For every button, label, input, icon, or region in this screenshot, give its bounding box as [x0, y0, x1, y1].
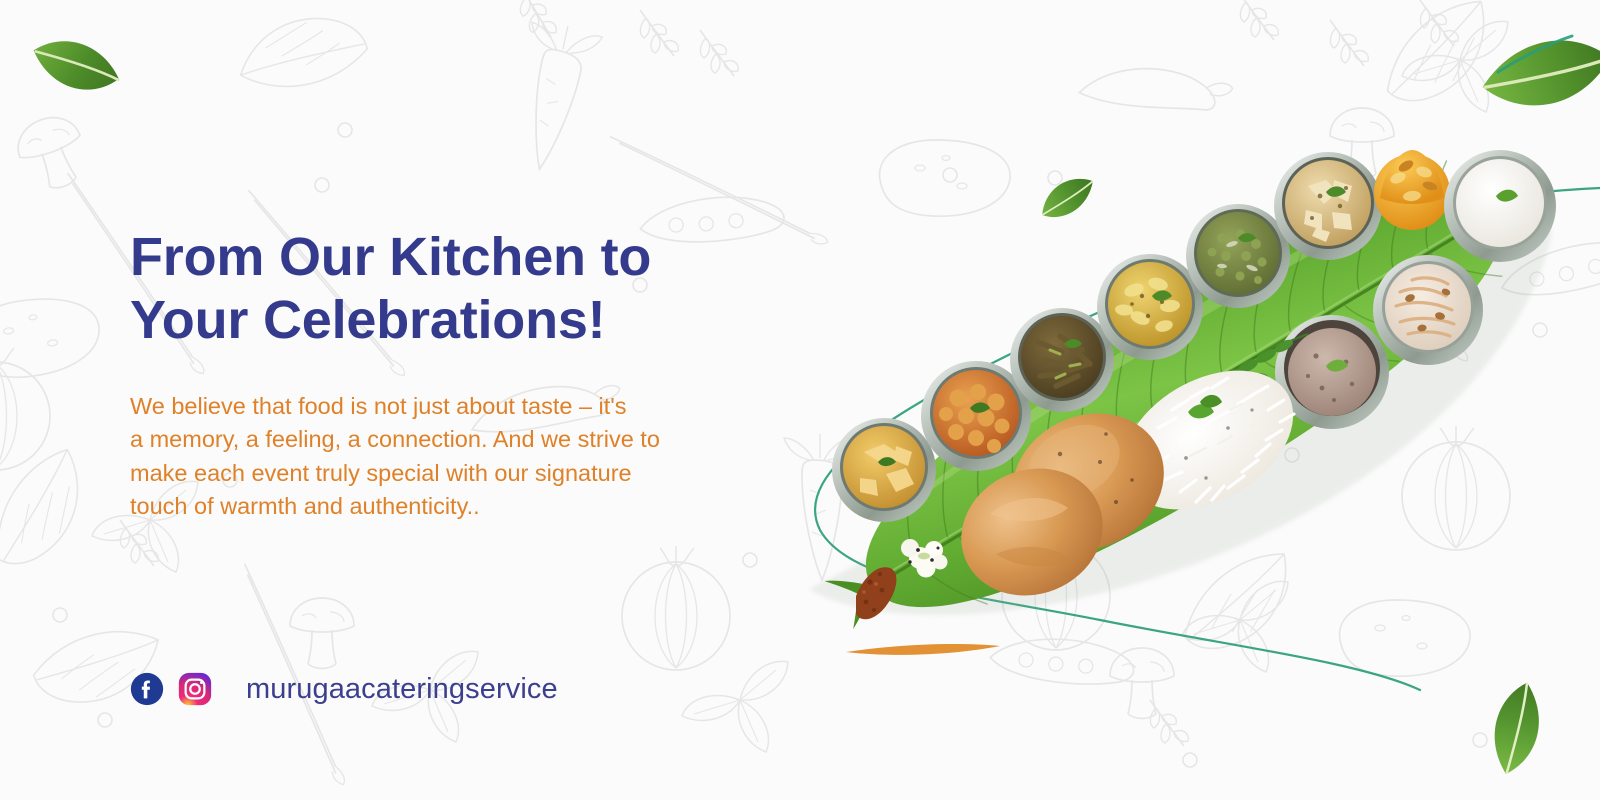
sweet-laddu [1374, 150, 1450, 230]
banana-leaf-thali-image [760, 110, 1600, 670]
bowl-potato-curry [832, 418, 936, 522]
bowl-cauliflower-fry [1274, 152, 1382, 260]
text-content-column: From Our Kitchen to Your Celebrations! W… [130, 0, 810, 800]
social-handle-text[interactable]: murugaacateringservice [246, 675, 558, 704]
facebook-icon[interactable] [130, 672, 164, 706]
page-title: From Our Kitchen to Your Celebrations! [130, 226, 651, 351]
instagram-icon[interactable] [178, 672, 212, 706]
bowl-curd [1444, 150, 1556, 262]
bowl-payasam [1373, 255, 1483, 365]
bowl-dal-tadka [1097, 254, 1203, 360]
bowl-bhindi-fry [1010, 308, 1114, 412]
description-text: We believe that food is not just about t… [130, 390, 790, 523]
bowl-beans-poriyal [1186, 204, 1290, 308]
social-links-row: murugaacateringservice [130, 672, 558, 706]
promo-banner: From Our Kitchen to Your Celebrations! W… [0, 0, 1600, 800]
